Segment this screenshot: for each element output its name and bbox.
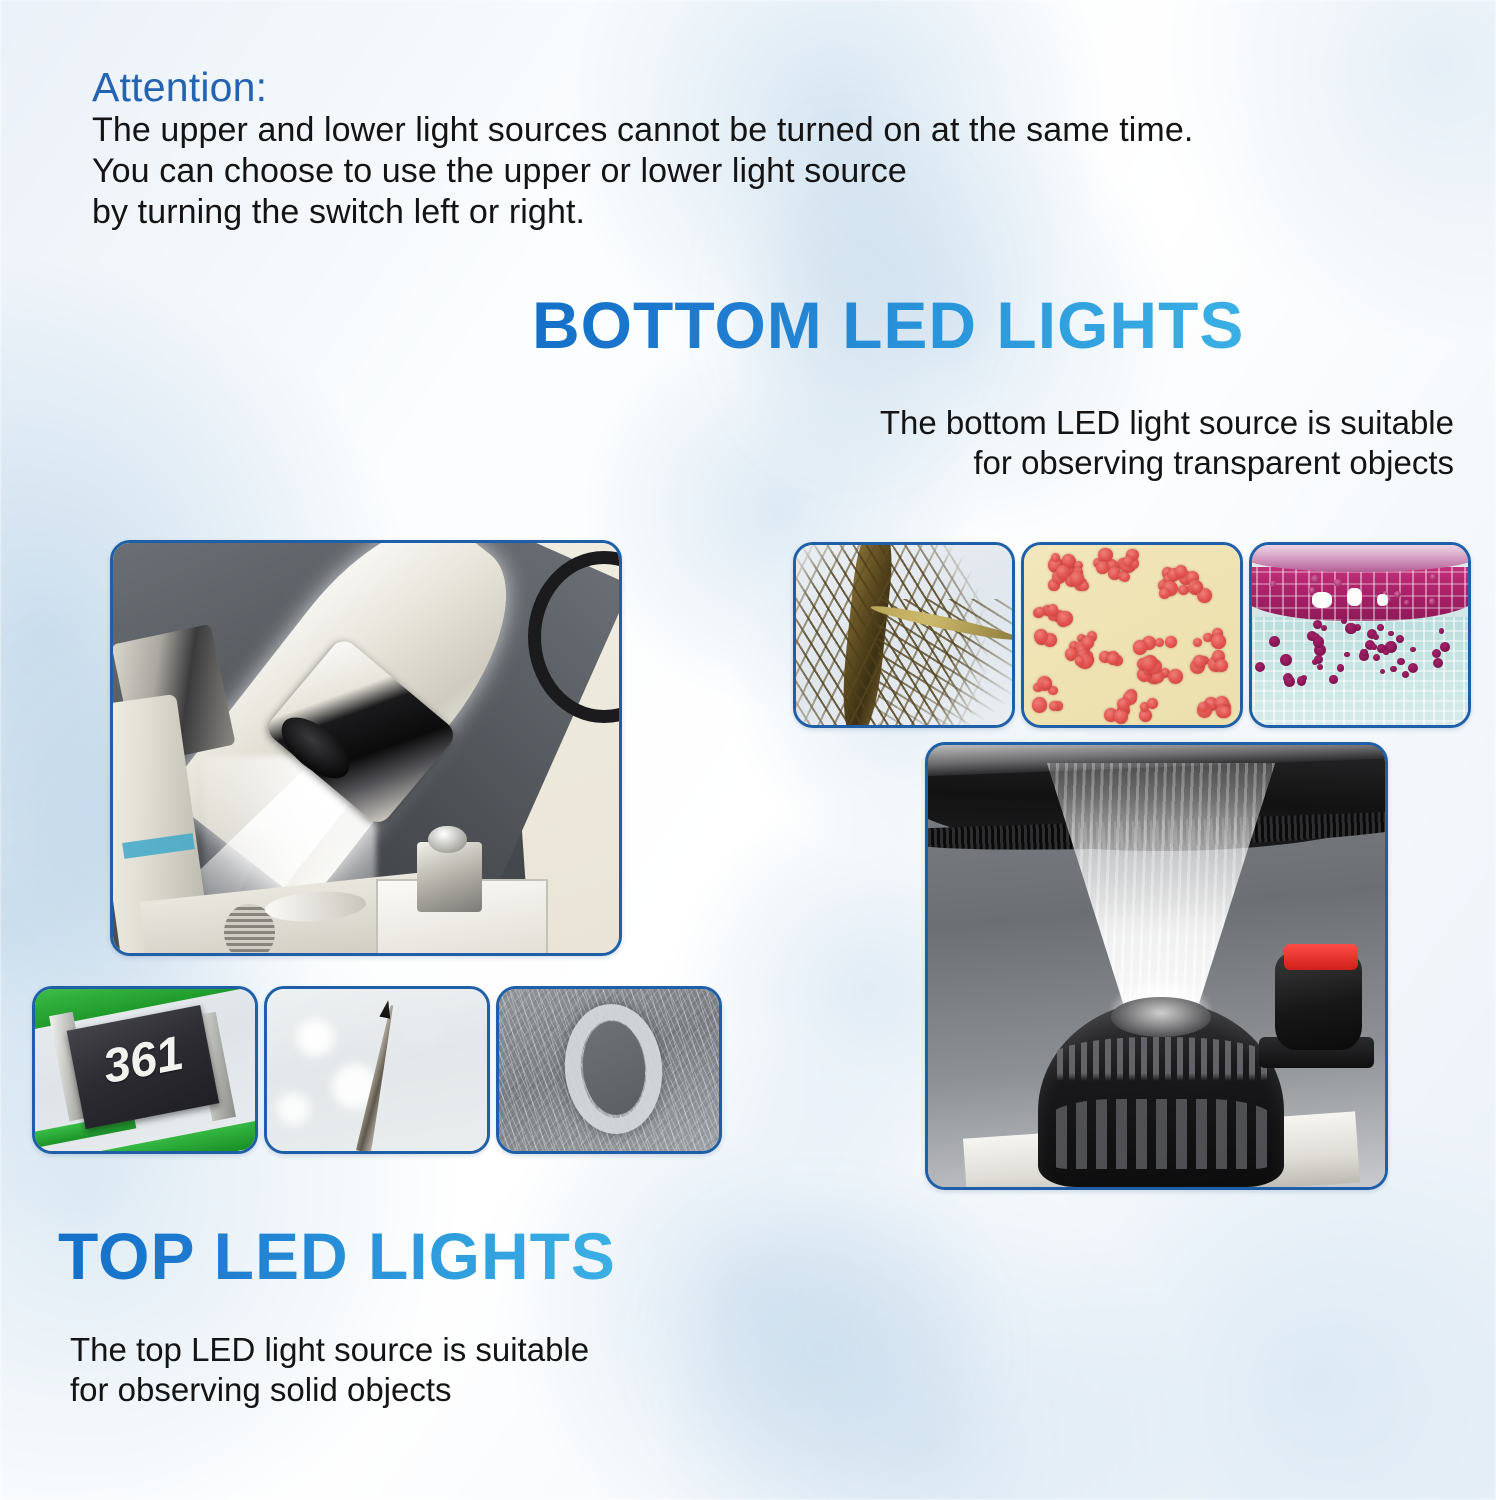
- stage-screw: [417, 842, 483, 912]
- blood-cell-field: [1024, 545, 1240, 725]
- photo-content: [1024, 545, 1240, 725]
- top-led-heading: TOP LED LIGHTS: [58, 1218, 616, 1294]
- top-led-caption: The top LED light source is suitable for…: [70, 1330, 790, 1410]
- attention-title: Attention:: [92, 64, 1193, 110]
- photo-content: [1252, 545, 1468, 725]
- needle-tip-specimen: [264, 986, 490, 1154]
- top-led-illumination-photo: [110, 540, 622, 956]
- insect-leg-hairs-specimen: [793, 542, 1015, 728]
- attention-body: The upper and lower light sources cannot…: [92, 110, 1193, 233]
- infographic-page: Attention: The upper and lower light sou…: [0, 0, 1496, 1500]
- bottom-led-heading: BOTTOM LED LIGHTS: [532, 287, 1244, 363]
- bottom-led-caption: The bottom LED light source is suitable …: [742, 403, 1454, 483]
- photo-content: 361: [35, 989, 255, 1151]
- red-knob-cap: [1284, 944, 1357, 971]
- attention-notice: Attention: The upper and lower light sou…: [92, 64, 1193, 233]
- photo-content: [796, 545, 1012, 725]
- photo-content: [499, 989, 719, 1151]
- photo-content: [267, 989, 487, 1151]
- smd-resistor-361-specimen: 361: [32, 986, 258, 1154]
- plant-stem-cross-section-specimen: [1249, 542, 1471, 728]
- photo-content: [113, 543, 619, 953]
- bottom-led-illumination-photo: [925, 742, 1388, 1190]
- stem-vascular-dots: [1252, 545, 1468, 725]
- coin-zero-engraving-specimen: [496, 986, 722, 1154]
- photo-content: [928, 745, 1385, 1187]
- blood-cells-specimen: [1021, 542, 1243, 728]
